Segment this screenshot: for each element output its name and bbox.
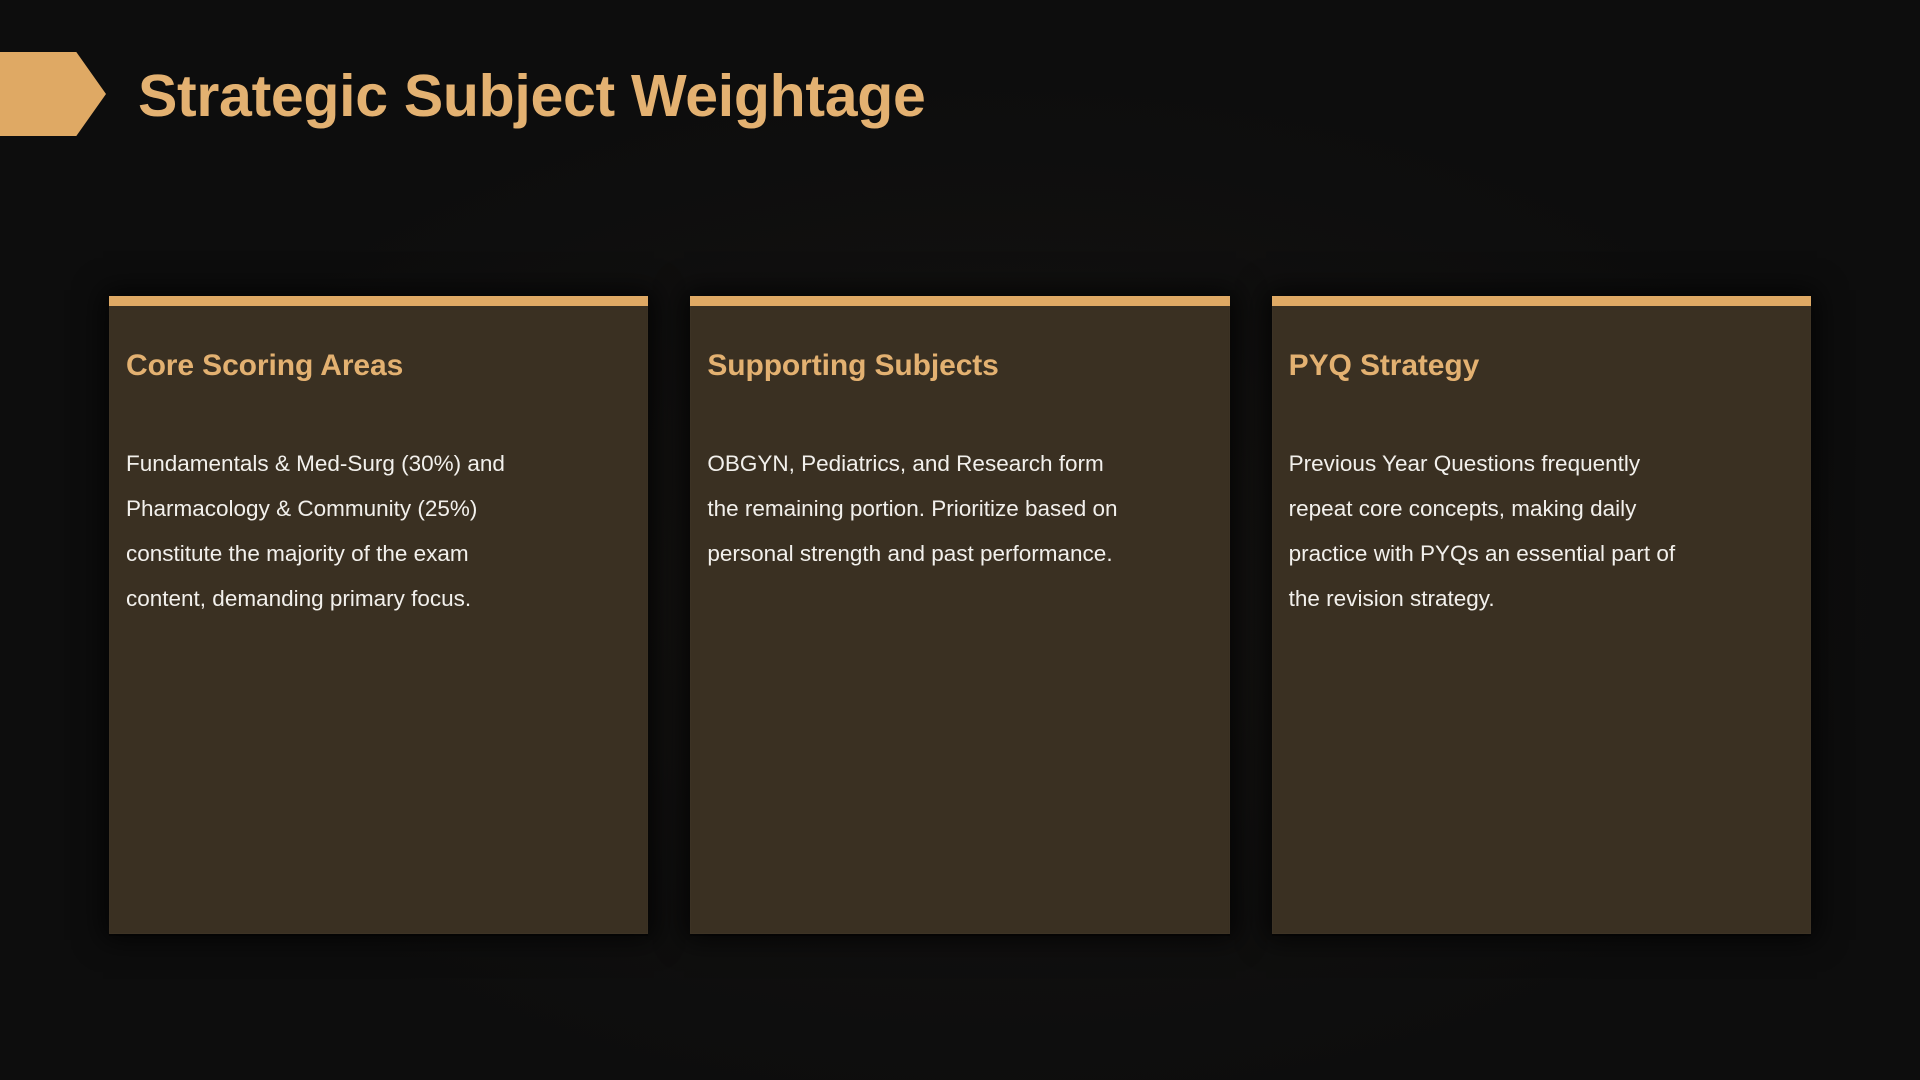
card-body: Supporting Subjects OBGYN, Pediatrics, a… bbox=[690, 306, 1229, 576]
card-title: Supporting Subjects bbox=[707, 348, 1203, 384]
card-accent-bar bbox=[690, 296, 1229, 306]
card-text: OBGYN, Pediatrics, and Research form the… bbox=[707, 384, 1127, 576]
chevron-marker-icon bbox=[0, 52, 106, 136]
card-accent-bar bbox=[1272, 296, 1811, 306]
card-pyq-strategy[interactable]: PYQ Strategy Previous Year Questions fre… bbox=[1272, 296, 1811, 934]
card-body: PYQ Strategy Previous Year Questions fre… bbox=[1272, 306, 1811, 621]
slide-header: Strategic Subject Weightage bbox=[0, 0, 1920, 200]
card-supporting-subjects[interactable]: Supporting Subjects OBGYN, Pediatrics, a… bbox=[690, 296, 1229, 934]
card-core-scoring-areas[interactable]: Core Scoring Areas Fundamentals & Med-Su… bbox=[109, 296, 648, 934]
card-title: Core Scoring Areas bbox=[126, 348, 622, 384]
page-title: Strategic Subject Weightage bbox=[138, 66, 925, 128]
card-title: PYQ Strategy bbox=[1289, 348, 1785, 384]
slide-root: Strategic Subject Weightage Core Scoring… bbox=[0, 0, 1920, 1080]
card-grid: Core Scoring Areas Fundamentals & Med-Su… bbox=[109, 296, 1811, 934]
card-text: Fundamentals & Med-Surg (30%) and Pharma… bbox=[126, 384, 546, 621]
card-text: Previous Year Questions frequently repea… bbox=[1289, 384, 1709, 621]
card-accent-bar bbox=[109, 296, 648, 306]
card-body: Core Scoring Areas Fundamentals & Med-Su… bbox=[109, 306, 648, 621]
